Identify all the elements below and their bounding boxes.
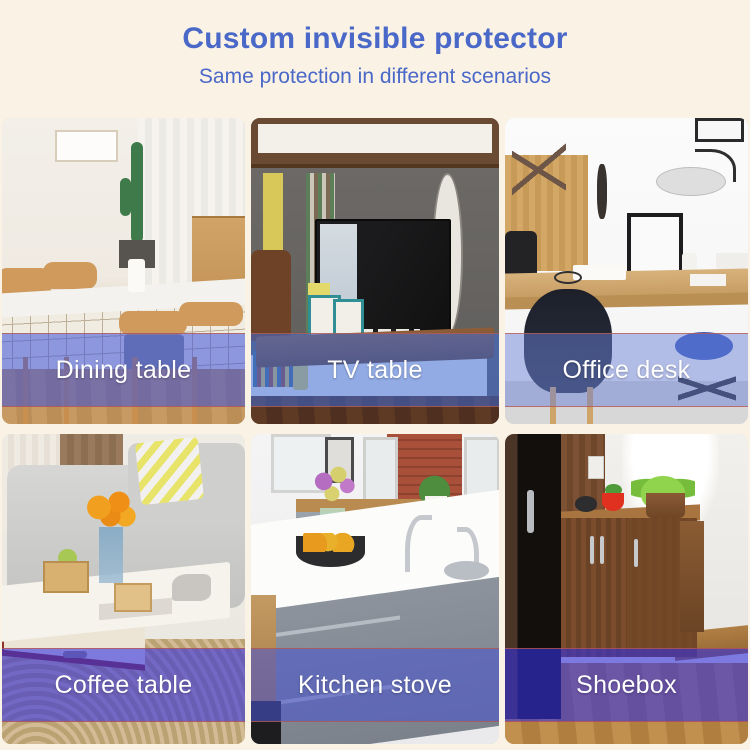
scenario-gallery-grid: Dining table TV table [2, 118, 748, 744]
page-subtitle: Same protection in different scenarios [0, 65, 750, 88]
scenario-card-tv-table[interactable]: TV table [251, 118, 499, 424]
scenario-label-band: Coffee table [2, 648, 245, 722]
scenario-label: Coffee table [55, 671, 193, 700]
scenario-label-band: Shoebox [505, 648, 748, 722]
scenario-label-band: Office desk [505, 333, 748, 407]
scenario-label-band: TV table [251, 333, 499, 407]
scenario-label-band: Kitchen stove [251, 648, 499, 722]
scenario-label: Shoebox [576, 671, 677, 700]
scenario-card-coffee-table[interactable]: Coffee table [2, 434, 245, 744]
scenario-label-band: Dining table [2, 333, 245, 407]
scenario-label: Office desk [563, 356, 691, 385]
page-title: Custom invisible protector [0, 22, 750, 56]
scenario-label: Kitchen stove [298, 671, 452, 700]
scenario-card-kitchen-stove[interactable]: Kitchen stove [251, 434, 499, 744]
scenario-card-shoebox[interactable]: Shoebox [505, 434, 748, 744]
header: Custom invisible protector Same protecti… [0, 0, 750, 88]
product-infographic-page: Custom invisible protector Same protecti… [0, 0, 750, 750]
scenario-label: Dining table [56, 356, 192, 385]
scenario-card-dining-table[interactable]: Dining table [2, 118, 245, 424]
scenario-label: TV table [327, 356, 423, 385]
scenario-card-office-desk[interactable]: Office desk [505, 118, 748, 424]
